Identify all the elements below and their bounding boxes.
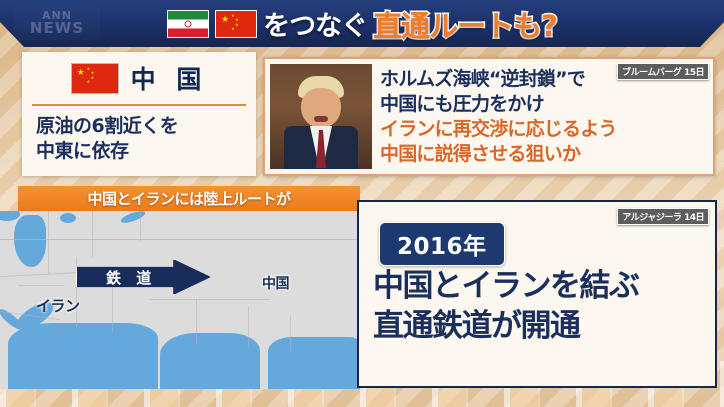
star-icon: ★ (91, 76, 95, 80)
land-route-map-block: 中国とイランには陸上ルートが イラン 中国 鉄 道 (0, 186, 360, 389)
headline-banner: ANN NEWS ★ ★ ★ ★ ★ をつなぐ 直通ルートも? (0, 0, 724, 47)
year-panel-lines: 中国とイランを結ぶ 直通鉄道が開通 (373, 267, 707, 346)
trump-caption-lines: ホルムズ海峡“逆封鎖”で 中国にも圧力をかけ イランに再交渉に応じるよう 中国に… (380, 67, 707, 167)
map-label-china: 中国 (262, 273, 289, 293)
map-label-iran: イラン (36, 295, 80, 316)
year-line-2: 直通鉄道が開通 (373, 307, 707, 347)
china-flag-icon: ★ ★ ★ ★ ★ (71, 63, 119, 94)
aral-sea (60, 213, 76, 223)
border-line (290, 315, 291, 351)
caspian-sea (14, 215, 46, 267)
border-line (0, 239, 360, 240)
border-line (248, 307, 249, 347)
arabian-sea (8, 323, 158, 389)
source-tag-bloomberg: ブルームバーグ 15日 (617, 63, 709, 80)
bay-of-bengal (160, 333, 260, 389)
face-shape (301, 88, 341, 128)
star-icon: ★ (87, 80, 91, 84)
china-card-header: ★ ★ ★ ★ ★ 中 国 (22, 52, 256, 104)
black-sea (0, 211, 20, 221)
trump-line-2: 中国にも圧力をかけ (380, 92, 707, 117)
lake-balkhash (119, 211, 146, 225)
map-header-text: 中国とイランには陸上ルートが (87, 188, 290, 209)
china-card-body: 原油の6割近くを 中東に依存 (22, 106, 256, 165)
trump-report-panel: ホルムズ海峡“逆封鎖”で 中国にも圧力をかけ イランに再交渉に応じるよう 中国に… (263, 57, 715, 176)
mouth-shape (314, 116, 328, 122)
iran-flag-icon (167, 10, 209, 38)
border-line (48, 211, 49, 273)
star-icon: ★ (77, 69, 85, 78)
year-badge: 2016年 (379, 222, 505, 266)
headline-text-orange: 直通ルートも? (373, 3, 557, 45)
star-icon: ★ (91, 71, 95, 75)
star-icon: ★ (235, 23, 239, 27)
border-line (196, 299, 197, 343)
china-body-line-2: 中東に依存 (36, 139, 256, 164)
railway-arrow-label: 鉄 道 (76, 259, 211, 295)
south-china-sea (268, 337, 360, 389)
trump-photo (270, 64, 372, 169)
ann-news-logo: ANN NEWS (14, 6, 100, 40)
star-icon: ★ (231, 27, 235, 31)
border-line (140, 211, 141, 241)
border-line (150, 299, 270, 300)
headline-text-white: をつなぐ (263, 4, 367, 43)
year-2016-panel: 2016年 アルジャジーラ 14日 中国とイランを結ぶ 直通鉄道が開通 (357, 200, 717, 388)
star-icon: ★ (221, 16, 229, 25)
border-line (18, 285, 64, 286)
trump-line-3: イランに再交渉に応じるよう (380, 117, 707, 142)
year-line-1: 中国とイランを結ぶ (373, 267, 707, 307)
star-icon: ★ (235, 18, 239, 22)
china-body-line-1: 原油の6割近くを (36, 114, 256, 139)
logo-line-2: NEWS (30, 21, 84, 36)
china-flag-icon: ★ ★ ★ ★ ★ (215, 10, 257, 38)
source-tag-aljazeera: アルジャジーラ 14日 (617, 208, 709, 225)
map-header-bar: 中国とイランには陸上ルートが (18, 186, 360, 211)
china-info-card: ★ ★ ★ ★ ★ 中 国 原油の6割近くを 中東に依存 (22, 52, 256, 176)
border-line (92, 211, 93, 257)
trump-line-4: 中国に説得させる狙いか (380, 142, 707, 167)
map-canvas: イラン 中国 鉄 道 (0, 211, 360, 389)
country-name: 中 国 (131, 60, 208, 96)
